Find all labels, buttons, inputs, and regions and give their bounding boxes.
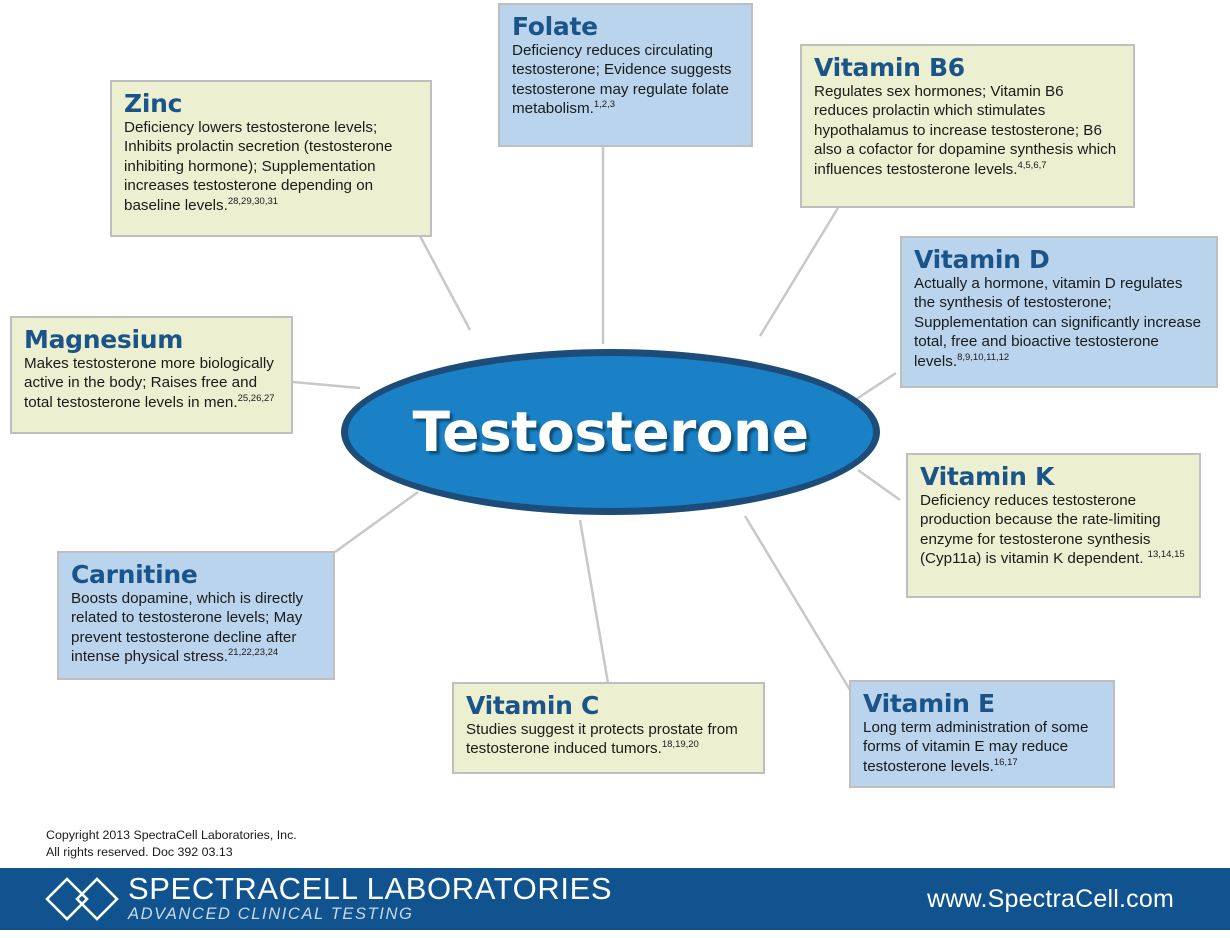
copyright-line-2: All rights reserved. Doc 392 03.13 [46,844,297,861]
node-body-carnitine: Boosts dopamine, which is directly relat… [71,589,321,667]
footer-company-name: SPECTRACELL LABORATORIES [128,873,612,904]
footer-wordmark: SPECTRACELL LABORATORIES ADVANCED CLINIC… [128,873,612,925]
node-body-magnesium: Makes testosterone more biologically act… [24,354,279,412]
central-node-label: Testosterone [412,400,808,464]
node-box-zinc: Zinc Deficiency lowers testosterone leve… [110,80,432,237]
node-box-vitamin-d: Vitamin D Actually a hormone, vitamin D … [900,236,1218,388]
node-body-folate: Deficiency reduces circulating testoster… [512,41,739,119]
connector-vitamin-c [580,520,608,683]
node-title-vitamin-d: Vitamin D [914,246,1204,273]
connector-connector-vitamin-e [745,516,850,690]
spectracell-diamond-logo-icon [44,875,120,923]
central-node-testosterone: Testosterone [341,349,880,515]
footer-tagline: ADVANCED CLINICAL TESTING [128,905,612,925]
node-body-text-vitamin-k: Deficiency reduces testosterone producti… [920,492,1161,567]
node-refs-vitamin-c: 18,19,20 [662,739,699,750]
copyright-line-1: Copyright 2013 SpectraCell Laboratories,… [46,827,297,844]
node-box-vitamin-c: Vitamin C Studies suggest it protects pr… [452,682,765,774]
node-box-vitamin-e: Vitamin E Long term administration of so… [849,680,1115,788]
node-body-vitamin-k: Deficiency reduces testosterone producti… [920,491,1187,569]
node-box-carnitine: Carnitine Boosts dopamine, which is dire… [57,551,335,680]
node-body-text-folate: Deficiency reduces circulating testoster… [512,42,732,117]
node-title-zinc: Zinc [124,90,418,117]
node-refs-vitamin-b6: 4,5,6,7 [1017,160,1046,171]
connector-vitamin-d [855,373,896,400]
node-body-text-magnesium: Makes testosterone more biologically act… [24,355,274,411]
connector-magnesium [293,382,360,388]
node-box-folate: Folate Deficiency reduces circulating te… [498,3,753,147]
node-refs-vitamin-d: 8,9,10,11,12 [957,352,1009,363]
infographic-page: Testosterone Folate Deficiency reduces c… [0,0,1230,938]
connector-carnitine [335,492,418,552]
node-title-vitamin-e: Vitamin E [863,690,1101,717]
node-title-carnitine: Carnitine [71,561,321,588]
connector-vitamin-k [858,470,900,500]
node-box-vitamin-b6: Vitamin B6 Regulates sex hormones; Vitam… [800,44,1135,208]
node-body-vitamin-d: Actually a hormone, vitamin D regulates … [914,274,1204,371]
node-title-magnesium: Magnesium [24,326,279,353]
node-body-text-vitamin-e: Long term administration of some forms o… [863,719,1088,775]
node-body-vitamin-b6: Regulates sex hormones; Vitamin B6 reduc… [814,82,1121,179]
footer-website-url[interactable]: www.SpectraCell.com [927,885,1174,914]
node-refs-vitamin-k: 13,14,15 [1148,549,1185,560]
node-box-vitamin-k: Vitamin K Deficiency reduces testosteron… [906,453,1201,598]
node-refs-zinc: 28,29,30,31 [228,196,278,207]
node-title-vitamin-b6: Vitamin B6 [814,54,1121,81]
node-refs-folate: 1,2,3 [594,99,615,110]
node-body-vitamin-e: Long term administration of some forms o… [863,718,1101,776]
node-body-vitamin-c: Studies suggest it protects prostate fro… [466,720,751,759]
node-title-vitamin-c: Vitamin C [466,692,751,719]
node-title-folate: Folate [512,13,739,40]
node-refs-vitamin-e: 16,17 [994,757,1018,768]
node-body-text-vitamin-b6: Regulates sex hormones; Vitamin B6 reduc… [814,83,1116,178]
footer-bar: SPECTRACELL LABORATORIES ADVANCED CLINIC… [0,868,1230,930]
node-title-vitamin-k: Vitamin K [920,463,1187,490]
connector-zinc [420,236,470,330]
node-box-magnesium: Magnesium Makes testosterone more biolog… [10,316,293,434]
node-body-zinc: Deficiency lowers testosterone levels; I… [124,118,418,215]
connector-vitamin-b6 [760,208,838,336]
node-refs-magnesium: 25,26,27 [238,393,275,404]
node-refs-carnitine: 21,22,23,24 [228,647,278,658]
copyright-notice: Copyright 2013 SpectraCell Laboratories,… [46,827,297,860]
